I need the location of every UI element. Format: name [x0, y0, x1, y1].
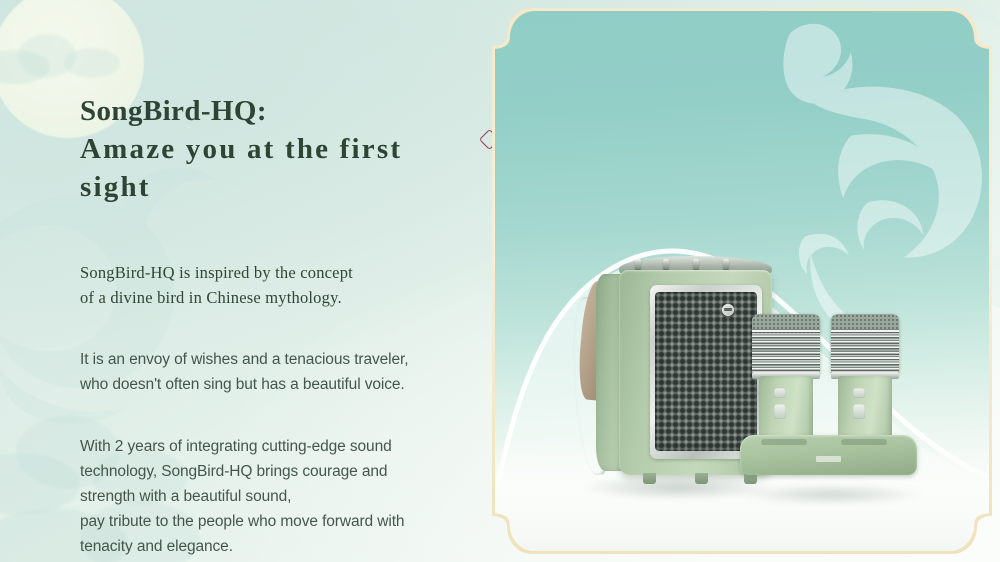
microphone-dock-shadow — [737, 484, 925, 506]
marketing-copy: SongBird-HQ:Amaze you at the first sight… — [80, 92, 480, 559]
speaker-chrome-bezel — [650, 285, 763, 459]
speaker-knob-1[interactable] — [635, 259, 641, 269]
panel-interior — [495, 11, 989, 551]
speaker-knob-3[interactable] — [693, 259, 699, 269]
dock-slot-left — [761, 439, 807, 445]
title-line-1: SongBird-HQ: — [80, 95, 267, 127]
product-image-panel — [492, 8, 992, 554]
microphone-left — [759, 314, 813, 450]
microphone-right-button-bottom[interactable] — [853, 404, 865, 419]
speaker-mesh-grille — [655, 292, 757, 451]
body-paragraph-3: With 2 years of integrating cutting-edge… — [80, 434, 480, 559]
speaker-foot-mid — [695, 473, 708, 483]
speaker-foot-left — [643, 473, 656, 483]
dock-brand-logo — [816, 456, 841, 462]
speaker-knob-4[interactable] — [723, 259, 729, 269]
dock-slot-right — [841, 439, 887, 445]
microphone-pair — [749, 292, 907, 476]
microphone-right-button-top[interactable] — [853, 388, 865, 398]
microphone-right — [838, 314, 892, 450]
product-photo — [495, 11, 989, 551]
title-line-2: Amaze you at the first sight — [80, 130, 480, 206]
microphone-left-head — [752, 314, 820, 376]
slide-canvas: SongBird-HQ:Amaze you at the first sight… — [0, 0, 1000, 562]
body-paragraph-2: It is an envoy of wishes and a tenacious… — [80, 347, 480, 397]
speaker-brand-logo — [722, 304, 734, 316]
charging-dock — [740, 435, 917, 475]
microphone-left-button-top[interactable] — [774, 388, 786, 398]
microphone-left-button-bottom[interactable] — [774, 404, 786, 419]
page-title: SongBird-HQ:Amaze you at the first sight — [80, 92, 480, 206]
speaker-knob-2[interactable] — [663, 259, 669, 269]
speaker-feet — [635, 473, 765, 483]
microphone-right-head — [831, 314, 899, 376]
lead-paragraph: SongBird-HQ is inspired by the concept o… — [80, 260, 480, 310]
